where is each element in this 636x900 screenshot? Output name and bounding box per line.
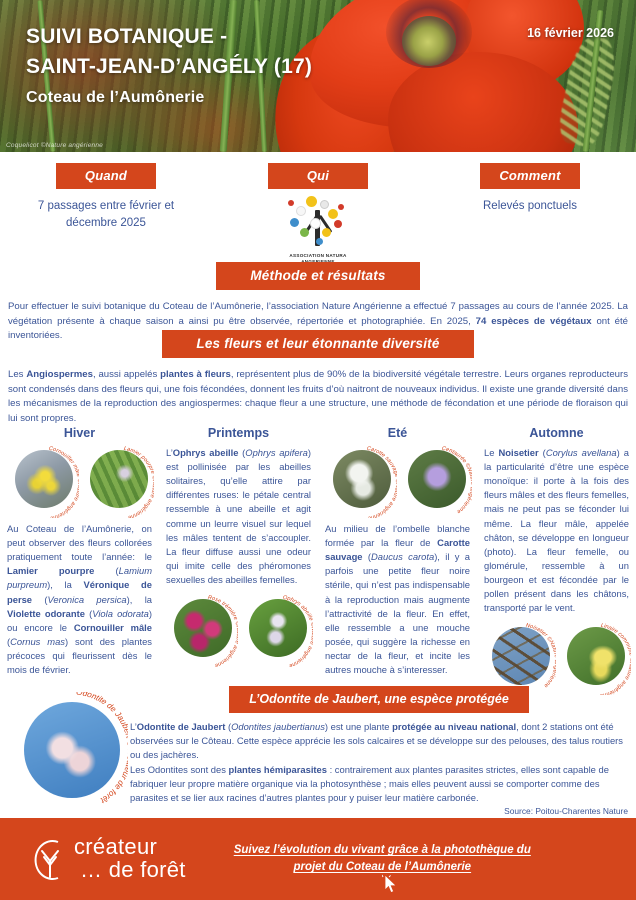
season-photos-top: Cornouiller mâle ©Nature angérienneLamie… bbox=[7, 446, 152, 518]
odontite-photo bbox=[24, 702, 120, 798]
odontite-paragraph-2: Les Odontites sont des plantes hémiparas… bbox=[130, 763, 628, 805]
flowers-badge-wrap: Les fleurs et leur étonnante diversité bbox=[0, 330, 636, 358]
season-photos-top: Carotte sauvage ©Nature angérienneCentau… bbox=[325, 446, 470, 518]
page-title: SUIVI BOTANIQUE - SAINT-JEAN-D’ANGÉLY (1… bbox=[26, 22, 312, 82]
text-run-11: Viola odorata bbox=[92, 608, 149, 619]
text-run-2: ( bbox=[539, 447, 546, 458]
season-photo-wrap: Ophrys abeille ©Nature angérienne bbox=[241, 595, 312, 667]
leaf-sprout-icon bbox=[28, 837, 70, 881]
text-run-1: plantes hémiparasites bbox=[229, 764, 327, 775]
odontite-body: L’Odontite de Jaubert, une espèce protég… bbox=[130, 686, 628, 816]
season-photo-wrap: Centaurée ©Nature angérienne bbox=[400, 446, 471, 518]
text-run-5: protégée au niveau national bbox=[392, 721, 516, 732]
season-photo-wrap: Lamier pourpre ©Nature angérienne bbox=[82, 446, 153, 518]
page-title-line1: SUIVI BOTANIQUE - bbox=[26, 22, 312, 52]
season-column-printemps: PrintempsL’Ophrys abeille (Ophrys apifer… bbox=[159, 426, 318, 695]
season-description: L’Ophrys abeille (Ophrys apifera) est po… bbox=[166, 446, 311, 587]
badge-comment: Comment bbox=[480, 163, 580, 189]
seasons-grid: HiverCornouiller mâle ©Nature angérienne… bbox=[0, 426, 636, 695]
text-run-4: ) est pollinisée par les abeilles solita… bbox=[166, 447, 311, 585]
text-run-2: ( bbox=[363, 551, 371, 562]
text-run-1: Noisetier bbox=[499, 447, 539, 458]
method-badge-wrap: Méthode et résultats bbox=[0, 262, 636, 290]
season-description: Au Coteau de l’Aumônerie, on peut observ… bbox=[7, 522, 152, 677]
comment-text: Relevés ponctuels bbox=[438, 198, 623, 215]
season-photo-wrap: Rose trémière ©Nature angérienne bbox=[166, 595, 237, 667]
season-description: Le Noisetier (Corylus avellana) a la par… bbox=[484, 446, 629, 615]
season-photo-caption: Lamier pourpre ©Nature angérienne bbox=[82, 446, 154, 518]
season-photo-caption: Rose trémière ©Nature angérienne bbox=[166, 595, 238, 667]
svg-text:Rose trémière ©Nature angérien: Rose trémière ©Nature angérienne bbox=[207, 595, 238, 667]
page-title-line2: SAINT-JEAN-D’ANGÉLY (17) bbox=[26, 52, 312, 82]
text-run-3: Daucus carota bbox=[371, 551, 434, 562]
photo-library-link[interactable]: Suivez l’évolution du vivant grâce à la … bbox=[234, 842, 531, 875]
text-run-3: Ophrys apifera bbox=[245, 447, 308, 458]
text-run-13: Cornouiller mâle bbox=[74, 622, 152, 633]
cursor-icon bbox=[382, 874, 400, 896]
page-subtitle: Coteau de l’Aumônerie bbox=[26, 89, 204, 107]
info-col-comment: Comment Relevés ponctuels bbox=[424, 163, 636, 256]
svg-text:Cornouiller mâle ©Nature angér: Cornouiller mâle ©Nature angérienne bbox=[48, 446, 79, 518]
flowers-text-b1: Angiospermes bbox=[26, 369, 93, 380]
footer-logo-line2: … de forêt bbox=[80, 859, 186, 882]
method-text-highlight: 74 espèces de végétaux bbox=[476, 316, 592, 327]
createur-de-foret-logo: créateur … de forêt bbox=[28, 836, 186, 881]
flowers-text-2: , aussi appelés bbox=[93, 369, 160, 380]
odontite-source: Source: Poitou-Charentes Nature bbox=[130, 806, 628, 816]
text-run-1: Odontite de Jaubert bbox=[137, 721, 226, 732]
badge-fleurs-diversite: Les fleurs et leur étonnante diversité bbox=[162, 330, 473, 358]
text-run-0: Les Odontites sont des bbox=[130, 764, 229, 775]
season-photos-bottom: Noisetier ©Nature angérienneLinaire comm… bbox=[484, 623, 629, 695]
season-column-hiver: HiverCornouiller mâle ©Nature angérienne… bbox=[0, 426, 159, 695]
poppy-flower-graphic bbox=[268, 0, 578, 152]
season-photo-wrap: Noisetier ©Nature angérienne bbox=[484, 623, 555, 695]
text-run-4: ) a la particularité d’être une espèce m… bbox=[484, 447, 629, 613]
season-title: Printemps bbox=[166, 426, 311, 440]
svg-text:Noisetier ©Nature angérienne: Noisetier ©Nature angérienne bbox=[525, 623, 556, 689]
text-run-8: ), la bbox=[127, 594, 152, 605]
season-photo-caption: Linaire commune ©Nature angérienne bbox=[559, 623, 631, 695]
text-run-3: Corylus avellana bbox=[546, 447, 617, 458]
text-run-15: Cornus mas bbox=[10, 636, 65, 647]
svg-text:Linaire commune ©Nature angéri: Linaire commune ©Nature angérienne bbox=[599, 623, 631, 695]
badge-methode-resultats: Méthode et résultats bbox=[216, 262, 419, 290]
cta-line1[interactable]: Suivez l’évolution du vivant grâce à la … bbox=[234, 844, 531, 856]
text-run-1: Ophrys abeille bbox=[173, 447, 239, 458]
hero-banner: SUIVI BOTANIQUE - SAINT-JEAN-D’ANGÉLY (1… bbox=[0, 0, 636, 152]
season-photo-wrap: Linaire commune ©Nature angérienne bbox=[559, 623, 630, 695]
text-run-1: Lamier pourpre bbox=[7, 565, 94, 576]
svg-text:Carotte sauvage ©Nature angéri: Carotte sauvage ©Nature angérienne bbox=[366, 446, 397, 518]
season-photos-bottom: Rose trémière ©Nature angérienneOphrys a… bbox=[166, 595, 311, 667]
hero-photo-credit: Coquelicot ©Nature angérienne bbox=[6, 142, 103, 149]
text-run-0: L’ bbox=[166, 447, 173, 458]
text-run-4: ) est une plante bbox=[325, 721, 392, 732]
text-run-9: Violette odorante bbox=[7, 608, 85, 619]
season-photo-caption: Carotte sauvage ©Nature angérienne bbox=[325, 446, 397, 518]
badge-quand: Quand bbox=[56, 163, 156, 189]
text-run-4: ), il y a parfois une petite fleur noire… bbox=[325, 551, 470, 675]
flowers-text-b2: plantes à fleurs bbox=[160, 369, 231, 380]
footer-logo-line1: créateur bbox=[74, 836, 186, 859]
flowers-intro-paragraph: Les Angiospermes, aussi appelés plantes … bbox=[0, 368, 636, 426]
association-logo: ASSOCIATION NATURA ANGERIENNE bbox=[276, 194, 360, 256]
info-col-quand: Quand 7 passages entre février et décemb… bbox=[0, 163, 212, 256]
season-photo-caption: Noisetier ©Nature angérienne bbox=[484, 623, 556, 695]
season-photo-caption: Ophrys abeille ©Nature angérienne bbox=[241, 595, 313, 667]
quand-text: 7 passages entre février et décembre 202… bbox=[14, 198, 199, 231]
svg-text:Ophrys abeille ©Nature angérie: Ophrys abeille ©Nature angérienne bbox=[282, 595, 313, 667]
info-row: Quand 7 passages entre février et décemb… bbox=[0, 163, 636, 256]
text-run-0: Au Coteau de l’Aumônerie, on peut observ… bbox=[7, 523, 152, 562]
footer-bar: créateur … de forêt Suivez l’évolution d… bbox=[0, 818, 636, 900]
poster-page: SUIVI BOTANIQUE - SAINT-JEAN-D’ANGÉLY (1… bbox=[0, 0, 636, 900]
text-run-0: Le bbox=[484, 447, 499, 458]
footer-logo-text: créateur … de forêt bbox=[74, 836, 186, 881]
season-column-automne: AutomneLe Noisetier (Corylus avellana) a… bbox=[477, 426, 636, 695]
season-photo-wrap: Cornouiller mâle ©Nature angérienne bbox=[7, 446, 78, 518]
text-run-0: L’ bbox=[130, 721, 137, 732]
svg-text:Centaurée ©Nature angérienne: Centaurée ©Nature angérienne bbox=[441, 446, 472, 514]
text-run-3: Odontites jaubertianus bbox=[231, 721, 325, 732]
odontite-paragraph-1: L’Odontite de Jaubert (Odontites jaubert… bbox=[130, 720, 628, 762]
season-photo-caption: Centaurée ©Nature angérienne bbox=[400, 446, 472, 518]
page-date: 16 février 2026 bbox=[527, 26, 614, 40]
season-title: Automne bbox=[484, 426, 629, 440]
cta-line2[interactable]: projet du Coteau de l’Aumônerie bbox=[293, 861, 471, 873]
text-run-2: ( bbox=[94, 565, 118, 576]
season-description: Au milieu de l’ombelle blanche formée pa… bbox=[325, 522, 470, 677]
text-run-6: ( bbox=[32, 594, 47, 605]
season-title: Eté bbox=[325, 426, 470, 440]
season-title: Hiver bbox=[7, 426, 152, 440]
badge-odontite: L’Odontite de Jaubert, une espèce protég… bbox=[229, 686, 529, 713]
association-logo-label1: ASSOCIATION NATURA bbox=[276, 253, 360, 258]
badge-qui: Qui bbox=[268, 163, 368, 189]
odontite-photo-wrap: Odontite de Jaubert ©Créateur de forêt bbox=[6, 692, 128, 808]
season-photo-caption: Cornouiller mâle ©Nature angérienne bbox=[7, 446, 79, 518]
season-column-eté: EtéCarotte sauvage ©Nature angérienneCen… bbox=[318, 426, 477, 695]
svg-text:Lamier pourpre ©Nature angérie: Lamier pourpre ©Nature angérienne bbox=[123, 446, 154, 518]
flowers-text-1: Les bbox=[8, 369, 26, 380]
info-col-qui: Qui ASSOCIATION NATURA ANGERIENNE bbox=[212, 163, 424, 256]
season-photo-wrap: Carotte sauvage ©Nature angérienne bbox=[325, 446, 396, 518]
text-run-7: Veronica persica bbox=[47, 594, 126, 605]
text-run-4: ), la bbox=[47, 579, 83, 590]
